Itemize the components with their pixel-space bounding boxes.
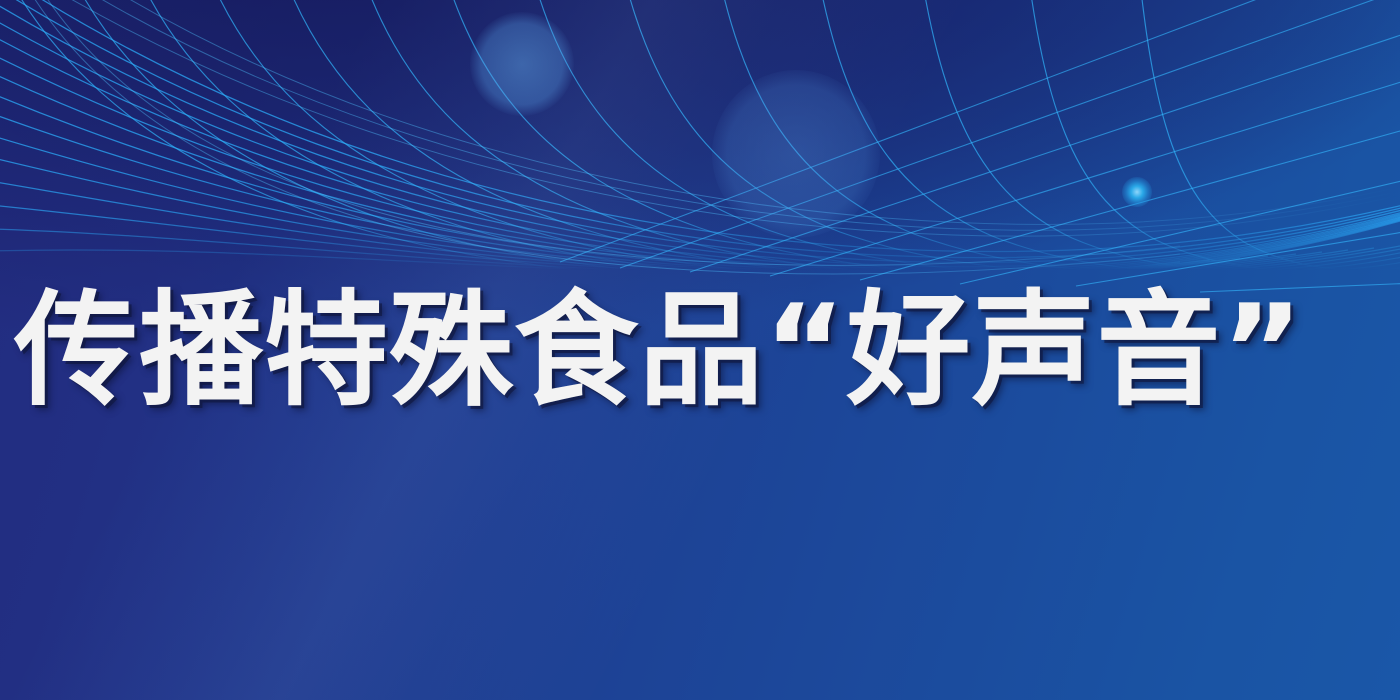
headline-container: 传播特殊食品“好声音” <box>0 272 1400 432</box>
glowing-dot-icon <box>1122 177 1152 207</box>
banner-root: 传播特殊食品“好声音” <box>0 0 1400 700</box>
banner-headline: 传播特殊食品“好声音” <box>0 285 1304 419</box>
